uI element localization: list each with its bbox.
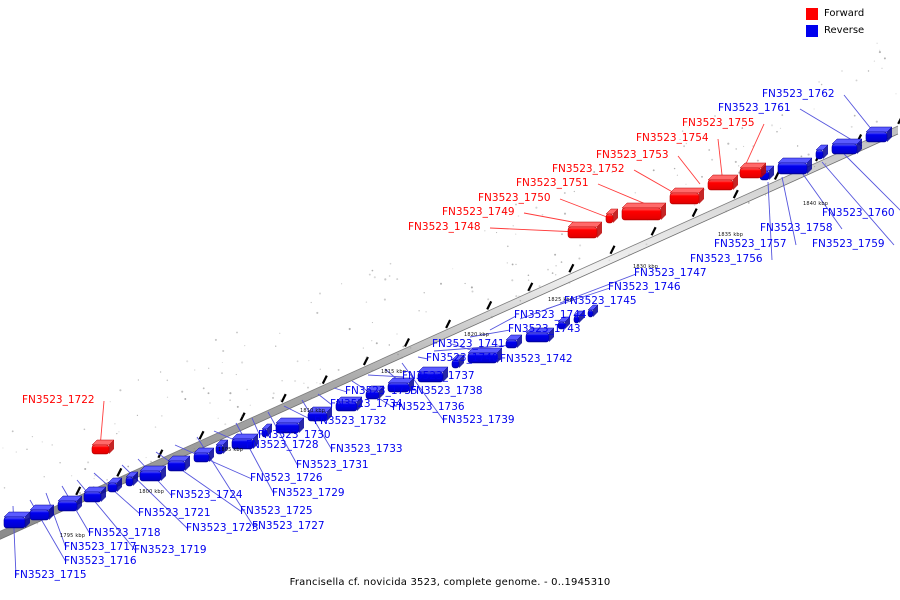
speckle-dot (294, 380, 296, 382)
gene-box[interactable] (506, 335, 522, 348)
speckle-dot (137, 415, 138, 416)
speckle-dot (215, 339, 217, 341)
speckle-dot (396, 278, 398, 280)
speckle-dot (552, 272, 554, 274)
scale-label: 1795 kbp (60, 533, 85, 539)
speckle-dot (402, 346, 404, 348)
speckle-dot (138, 379, 139, 380)
scale-tick (282, 394, 286, 402)
speckle-dot (564, 192, 566, 194)
speckle-dot (609, 260, 610, 261)
speckle-dot (765, 195, 766, 196)
feature-label[interactable]: FN3523_1750 (478, 192, 551, 204)
scale-tick (405, 339, 409, 347)
speckle-dot (307, 387, 309, 389)
speckle-dot (229, 400, 230, 401)
gene-box[interactable] (58, 496, 82, 511)
speckle-dot (4, 487, 5, 488)
speckle-dot (520, 300, 521, 301)
speckle-dot (518, 215, 520, 217)
speckle-dot (6, 529, 8, 531)
feature-label[interactable]: FN3523_1748 (408, 221, 481, 233)
speckle-dot (222, 362, 223, 363)
speckle-dot (397, 354, 399, 356)
speckle-dot (513, 225, 514, 226)
speckle-dot (371, 340, 372, 341)
speckle-dot (735, 148, 736, 149)
speckle-dot (389, 275, 391, 277)
scale-tick (569, 264, 573, 272)
speckle-dot (881, 68, 882, 69)
feature-label[interactable]: FN3523_1738 (410, 385, 483, 397)
feature-label[interactable]: FN3523_1727 (252, 520, 325, 532)
speckle-dot (895, 93, 896, 94)
speckle-dot (194, 448, 196, 450)
feature-label[interactable]: FN3523_1717 (64, 541, 137, 553)
gene-box[interactable] (816, 145, 828, 159)
speckle-dot (338, 369, 340, 371)
speckle-dot (471, 286, 473, 288)
gene-box[interactable] (778, 158, 812, 174)
speckle-dot (221, 372, 223, 374)
speckle-dot (876, 121, 878, 123)
speckle-dot (507, 262, 508, 263)
feature-label[interactable]: FN3523_1751 (516, 177, 589, 189)
speckle-dot (372, 370, 374, 372)
feature-label[interactable]: FN3523_1724 (170, 489, 243, 501)
speckle-dot (578, 257, 580, 259)
speckle-dot (518, 296, 519, 297)
speckle-dot (825, 163, 827, 165)
speckle-dot (384, 278, 386, 280)
legend-swatch-reverse (806, 25, 818, 37)
leader-line (745, 124, 764, 166)
speckle-dot (487, 298, 489, 300)
speckle-dot (272, 397, 274, 399)
speckle-dot (160, 371, 161, 372)
speckle-dot (241, 415, 243, 417)
speckle-dot (776, 131, 778, 133)
figure-caption: Francisella cf. novicida 3523, complete … (0, 577, 900, 588)
gene-box[interactable] (708, 175, 738, 190)
speckle-dot (628, 254, 629, 255)
gene-box[interactable] (30, 505, 54, 520)
speckle-dot (418, 310, 419, 311)
speckle-dot (316, 312, 318, 314)
speckle-dot (114, 423, 116, 425)
speckle-dot (854, 115, 856, 117)
leader-line (368, 375, 404, 377)
speckle-dot (32, 436, 33, 437)
speckle-dot (465, 283, 466, 284)
feature-label[interactable]: FN3523_1726 (250, 472, 323, 484)
speckle-dot (390, 263, 392, 265)
speckle-dot (237, 406, 239, 408)
scale-tick (323, 376, 327, 384)
speckle-dot (184, 398, 186, 400)
speckle-dot (51, 444, 53, 446)
feature-label[interactable]: FN3523_1754 (636, 132, 709, 144)
gene-box[interactable] (140, 466, 166, 481)
leader-line (560, 199, 612, 219)
speckle-dot (801, 156, 803, 158)
speckle-dot (674, 168, 675, 169)
speckle-dot (694, 204, 696, 206)
speckle-dot (856, 79, 858, 81)
speckle-dot (186, 360, 188, 362)
feature-label[interactable]: FN3523_1735 (345, 385, 418, 397)
speckle-dot (372, 270, 374, 272)
feature-label[interactable]: FN3523_1761 (718, 102, 791, 114)
speckle-dot (155, 426, 156, 427)
genome-diagram: 1795 kbp1800 kbp1805 kbp1810 kbp1815 kbp… (0, 0, 900, 600)
speckle-dot (727, 143, 729, 145)
scale-tick (364, 357, 368, 365)
gene-boxes (4, 127, 892, 528)
speckle-dot (369, 274, 371, 276)
gene-box[interactable] (168, 456, 190, 471)
speckle-dot (94, 475, 96, 477)
speckle-dot (275, 346, 276, 347)
speckle-dot (528, 280, 529, 281)
feature-label[interactable]: FN3523_1723 (186, 522, 259, 534)
speckle-dot (579, 244, 581, 246)
speckle-dot (281, 380, 282, 381)
speckle-dot (561, 261, 563, 263)
feature-label[interactable]: FN3523_1732 (314, 415, 387, 427)
speckle-dot (208, 392, 210, 394)
speckle-dot (312, 397, 313, 398)
speckle-dot (250, 405, 251, 406)
leader-line (782, 177, 796, 245)
speckle-dot (79, 492, 81, 494)
speckle-dot (771, 124, 773, 126)
speckle-dot (424, 292, 425, 293)
speckle-dot (311, 302, 312, 303)
speckle-dot (511, 279, 513, 281)
speckle-dot (554, 254, 556, 256)
gene-box[interactable] (740, 163, 766, 178)
speckle-dot (384, 299, 386, 301)
leader-line (718, 139, 722, 175)
feature-label[interactable]: FN3523_1730 (258, 429, 331, 441)
speckle-dot (685, 184, 686, 185)
speckle-dot (539, 285, 541, 287)
speckle-dot (181, 391, 183, 393)
feature-label[interactable]: FN3523_1752 (552, 163, 625, 175)
speckle-dot (515, 264, 516, 265)
scale-tick (611, 246, 615, 254)
speckle-dot (711, 159, 713, 161)
speckle-dot (797, 145, 798, 146)
speckle-dot (366, 301, 367, 302)
leader-line (490, 228, 578, 232)
speckle-dot (757, 160, 759, 162)
speckle-dot (780, 128, 781, 129)
speckle-dot (236, 374, 237, 375)
legend-item-forward[interactable]: Forward (806, 6, 892, 21)
speckle-dot (512, 263, 514, 265)
speckle-dot (217, 418, 218, 419)
feature-label[interactable]: FN3523_1719 (134, 544, 207, 556)
speckle-dot (332, 379, 333, 380)
speckle-dot (814, 166, 815, 167)
gene-box[interactable] (866, 127, 892, 142)
speckle-dot (94, 478, 95, 479)
speckle-dot (84, 468, 86, 470)
speckle-dot (561, 233, 563, 235)
feature-label[interactable]: FN3523_1746 (608, 281, 681, 293)
speckle-dot (677, 175, 678, 176)
speckle-dot (635, 192, 637, 194)
speckle-dot (735, 161, 737, 163)
feature-label[interactable]: FN3523_1725 (240, 505, 313, 517)
leader-line (598, 184, 648, 205)
speckle-dot (150, 461, 152, 463)
speckle-dot (146, 457, 147, 458)
feature-label[interactable]: FN3523_1721 (138, 507, 211, 519)
speckle-dot (564, 213, 566, 215)
speckle-dot (297, 360, 299, 362)
feature-label[interactable]: FN3523_1733 (330, 443, 403, 455)
feature-label[interactable]: FN3523_1760 (822, 207, 895, 219)
feature-label[interactable]: FN3523_1731 (296, 459, 369, 471)
speckle-dot (743, 146, 744, 147)
speckle-dot (683, 145, 685, 147)
speckle-dot (316, 382, 317, 383)
feature-label[interactable]: FN3523_1718 (88, 527, 161, 539)
speckle-dot (708, 149, 710, 151)
speckle-dot (244, 345, 245, 346)
feature-label[interactable]: FN3523_1716 (64, 555, 137, 567)
speckle-dot (471, 290, 473, 292)
gene-box[interactable] (194, 448, 214, 462)
speckle-dot (224, 423, 226, 425)
leader-line (822, 162, 894, 245)
speckle-dot (555, 265, 557, 267)
speckle-dot (196, 439, 197, 440)
speckle-dot (529, 290, 531, 292)
speckle-dot (814, 108, 815, 109)
leader-line (844, 154, 900, 214)
speckle-dot (808, 154, 810, 156)
speckle-dot (425, 311, 427, 313)
speckle-dot (241, 361, 243, 363)
speckle-dot (818, 81, 820, 83)
scale-label: 1800 kbp (139, 489, 164, 495)
gene-box[interactable] (92, 440, 114, 454)
speckle-dot (118, 431, 119, 432)
speckle-dot (303, 383, 304, 384)
speckle-dot (116, 433, 117, 434)
speckle-dot (440, 283, 442, 285)
speckle-dot (372, 322, 373, 323)
gene-box[interactable] (108, 478, 122, 492)
scale-label: 1810 kbp (300, 408, 325, 414)
feature-label[interactable]: FN3523_1755 (682, 117, 755, 129)
gene-box[interactable] (568, 222, 602, 238)
speckle-dot (851, 126, 853, 128)
speckle-dot (246, 389, 247, 390)
speckle-dot (12, 430, 14, 432)
leader-line (800, 170, 842, 229)
speckle-dot (167, 380, 169, 382)
feature-label[interactable]: FN3523_1722 (22, 394, 95, 406)
speckle-dot (574, 191, 575, 192)
speckle-dot (363, 348, 364, 349)
scale-tick (652, 227, 656, 235)
feature-label[interactable]: FN3523_1753 (596, 149, 669, 161)
speckle-dot (496, 232, 497, 233)
speckle-dot (2, 447, 3, 448)
speckle-dot (203, 387, 205, 389)
speckle-dot (528, 274, 530, 276)
feature-label[interactable]: FN3523_1757 (714, 238, 787, 250)
speckle-dot (507, 245, 509, 247)
leader-line (678, 156, 700, 184)
speckle-dot (376, 342, 378, 344)
gene-box[interactable] (606, 209, 618, 223)
speckle-dot (222, 350, 224, 352)
scale-tick (693, 209, 697, 217)
speckle-dot (515, 233, 516, 234)
speckle-dot (110, 401, 111, 402)
speckle-dot (491, 316, 493, 318)
speckle-dot (868, 70, 869, 71)
gene-box[interactable] (622, 203, 666, 220)
legend-label-reverse: Reverse (824, 25, 864, 37)
speckle-dot (320, 369, 321, 370)
speckle-dot (452, 268, 453, 269)
scale-tick (117, 468, 121, 476)
speckle-dot (341, 283, 342, 284)
speckle-dot (273, 392, 275, 394)
speckle-dot (71, 475, 72, 476)
speckle-dot (279, 333, 280, 334)
speckle-dot (879, 50, 880, 51)
speckle-dot (319, 292, 321, 294)
speckle-dot (127, 466, 129, 468)
scale-tick (200, 431, 204, 439)
feature-label[interactable]: FN3523_1737 (402, 370, 475, 382)
speckle-dot (701, 176, 703, 178)
speckle-dot (44, 476, 45, 477)
speckle-dot (821, 84, 823, 86)
speckle-dot (876, 43, 877, 44)
speckle-dot (484, 230, 486, 232)
feature-label[interactable]: FN3523_1741 (432, 338, 505, 350)
scale-tick (734, 190, 738, 198)
speckle-dot (208, 368, 209, 369)
speckle-dot (229, 392, 231, 394)
feature-label[interactable]: FN3523_1740 (426, 352, 499, 364)
speckle-dot (59, 462, 60, 463)
strand-legend: Forward Reverse (806, 6, 892, 40)
feature-label[interactable]: FN3523_1736 (392, 401, 465, 413)
speckle-dot (37, 523, 39, 525)
speckle-dot (555, 274, 556, 275)
speckle-dot (874, 60, 875, 61)
gene-box[interactable] (4, 512, 30, 528)
feature-label[interactable]: FN3523_1742 (500, 353, 573, 365)
leader-line (634, 170, 676, 194)
speckle-dot (119, 389, 121, 391)
speckle-dot (16, 451, 18, 453)
gene-box[interactable] (670, 188, 704, 204)
speckle-dot (542, 214, 544, 216)
speckle-dot (280, 399, 282, 401)
speckle-dot (236, 332, 238, 334)
scale-tick (446, 320, 450, 328)
feature-label[interactable]: FN3523_1759 (812, 238, 885, 250)
feature-label[interactable]: FN3523_1756 (690, 253, 763, 265)
speckle-dot (653, 169, 655, 171)
speckle-dot (42, 441, 43, 442)
speckle-dot (366, 357, 368, 359)
speckle-dot (209, 402, 211, 404)
feature-label[interactable]: FN3523_1747 (634, 267, 707, 279)
speckle-dot (781, 114, 783, 116)
speckle-dot (879, 51, 881, 53)
speckle-dot (319, 383, 321, 385)
scale-label: 1805 kbp (218, 447, 243, 453)
speckle-dot (535, 207, 537, 209)
speckle-dot (401, 357, 403, 359)
speckle-dot (106, 479, 108, 481)
speckle-dot (308, 360, 309, 361)
speckle-dot (396, 333, 397, 334)
feature-label[interactable]: FN3523_1758 (760, 222, 833, 234)
legend-swatch-forward (806, 8, 818, 20)
speckle-dot (884, 57, 886, 59)
speckle-dot (349, 328, 351, 330)
speckle-dot (725, 210, 727, 212)
feature-label[interactable]: FN3523_1744 (514, 309, 587, 321)
speckle-dot (841, 70, 843, 72)
feature-label[interactable]: FN3523_1739 (442, 414, 515, 426)
feature-label[interactable]: FN3523_1743 (508, 323, 581, 335)
feature-label[interactable]: FN3523_1729 (272, 487, 345, 499)
speckle-dot (161, 415, 163, 417)
speckle-dot (374, 276, 376, 278)
speckle-dot (515, 295, 517, 297)
gene-box[interactable] (832, 139, 862, 154)
speckle-dot (26, 449, 27, 450)
feature-label[interactable]: FN3523_1762 (762, 88, 835, 100)
speckle-dot (389, 344, 390, 345)
speckle-dot (167, 397, 168, 398)
speckle-dot (738, 165, 739, 166)
speckle-dot (547, 269, 549, 271)
feature-label[interactable]: FN3523_1745 (564, 295, 637, 307)
speckle-dot (84, 428, 86, 430)
speckle-dot (410, 347, 412, 349)
speckle-dot (748, 202, 750, 204)
legend-label-forward: Forward (824, 8, 864, 20)
scale-tick (487, 301, 491, 309)
legend-item-reverse[interactable]: Reverse (806, 23, 892, 38)
speckle-dot (646, 243, 648, 245)
speckle-dot (568, 282, 570, 284)
speckle-dot (194, 369, 195, 370)
background-speckle (2, 43, 896, 531)
speckle-dot (87, 461, 89, 463)
feature-label[interactable]: FN3523_1749 (442, 206, 515, 218)
gene-box[interactable] (84, 487, 106, 502)
